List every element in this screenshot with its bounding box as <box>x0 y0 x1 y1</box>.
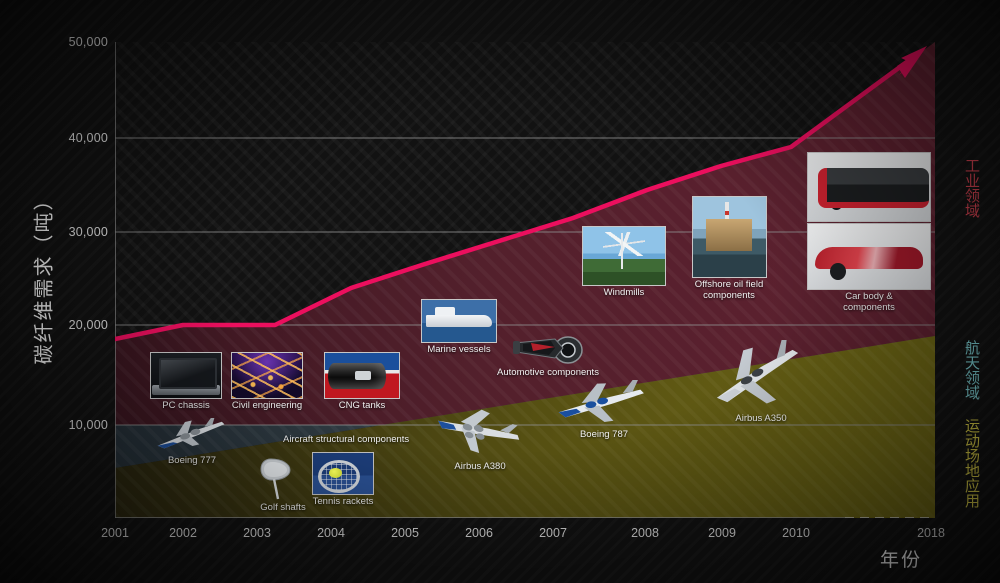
item-label: PC chassis <box>148 400 224 411</box>
item-label: Boeing 787 <box>552 429 656 440</box>
item-label: Car body & components <box>806 291 932 313</box>
airbus-a380-aircraft-icon <box>430 408 530 460</box>
item-label: Windmills <box>581 287 667 298</box>
civil-engineering-thumbnail <box>231 352 303 399</box>
item-label: Airbus A350 <box>702 413 820 424</box>
segment-label-sports: 运动场地应用 <box>957 418 979 508</box>
y-tick-30000: 30,000 <box>69 225 108 239</box>
x-tick-2010: 2010 <box>766 526 826 540</box>
boeing-787-aircraft-icon <box>552 380 656 428</box>
item-aircraft-structural: Aircraft structural components <box>283 434 409 445</box>
x-tick-2005: 2005 <box>375 526 435 540</box>
segment-label-aerospace: 航天领域 <box>957 340 979 400</box>
item-cng-tanks: CNG tanks <box>322 352 402 411</box>
airbus-a350-aircraft-icon <box>702 340 820 412</box>
x-tick-2001: 2001 <box>85 526 145 540</box>
item-label: Automotive components <box>492 367 604 378</box>
segment-label-industrial: 工业领域 <box>957 158 979 218</box>
x-tick-2003: 2003 <box>227 526 287 540</box>
y-tick-40000: 40,000 <box>69 131 108 145</box>
item-label: Civil engineering <box>222 400 312 411</box>
item-label: Airbus A380 <box>430 461 530 472</box>
item-label: Tennis rackets <box>311 496 375 507</box>
automotive-components-thumbnail <box>511 330 585 366</box>
car-body-bus-thumbnail <box>807 152 931 222</box>
y-tick-50000: 50,000 <box>69 35 108 49</box>
windmills-thumbnail <box>582 226 666 286</box>
marine-vessels-thumbnail <box>421 299 497 343</box>
item-boeing-777: Boeing 777 <box>152 418 232 466</box>
golf-club-icon <box>254 455 312 501</box>
tennis-rackets-thumbnail <box>312 452 374 495</box>
y-tick-10000: 10,000 <box>69 418 108 432</box>
item-label: Offshore oil field components <box>690 279 768 301</box>
item-airbus-a350: Airbus A350 <box>702 340 820 424</box>
item-label: Marine vessels <box>420 344 498 355</box>
item-windmills: Windmills <box>581 226 667 298</box>
cng-tanks-thumbnail <box>324 352 400 399</box>
automotive-part-icon <box>511 330 585 366</box>
item-pc-chassis: PC chassis <box>148 352 224 411</box>
x-tick-2006: 2006 <box>449 526 509 540</box>
x-axis-title: 年份 <box>880 545 922 572</box>
y-tick-20000: 20,000 <box>69 318 108 332</box>
pc-chassis-thumbnail <box>150 352 222 399</box>
y-axis-title: 碳纤维需求（吨） <box>28 127 57 427</box>
carbon-fiber-demand-chart: 50,000 40,000 30,000 20,000 10,000 碳纤维需求… <box>0 0 1000 583</box>
boeing-777-aircraft-icon <box>152 418 232 452</box>
item-boeing-787: Boeing 787 <box>552 380 656 440</box>
x-tick-2002: 2002 <box>153 526 213 540</box>
item-offshore-oil-field: Offshore oil field components <box>690 196 768 301</box>
car-body-car-thumbnail <box>807 223 931 290</box>
x-tick-2004: 2004 <box>301 526 361 540</box>
item-label: Golf shafts <box>254 502 312 513</box>
item-label: Boeing 777 <box>152 455 232 466</box>
item-marine-vessels: Marine vessels <box>420 299 498 355</box>
item-label: CNG tanks <box>322 400 402 411</box>
item-airbus-a380: Airbus A380 <box>430 408 530 472</box>
item-automotive-components: Automotive components <box>492 330 604 378</box>
offshore-oil-field-thumbnail <box>692 196 767 278</box>
x-tick-2018: 2018 <box>901 526 961 540</box>
item-car-body: Car body & components <box>806 152 932 313</box>
x-tick-2008: 2008 <box>615 526 675 540</box>
item-golf-shafts: Golf shafts <box>254 455 312 513</box>
item-civil-engineering: Civil engineering <box>222 352 312 411</box>
x-tick-2009: 2009 <box>692 526 752 540</box>
item-tennis-rackets: Tennis rackets <box>311 452 375 507</box>
x-tick-2007: 2007 <box>523 526 583 540</box>
